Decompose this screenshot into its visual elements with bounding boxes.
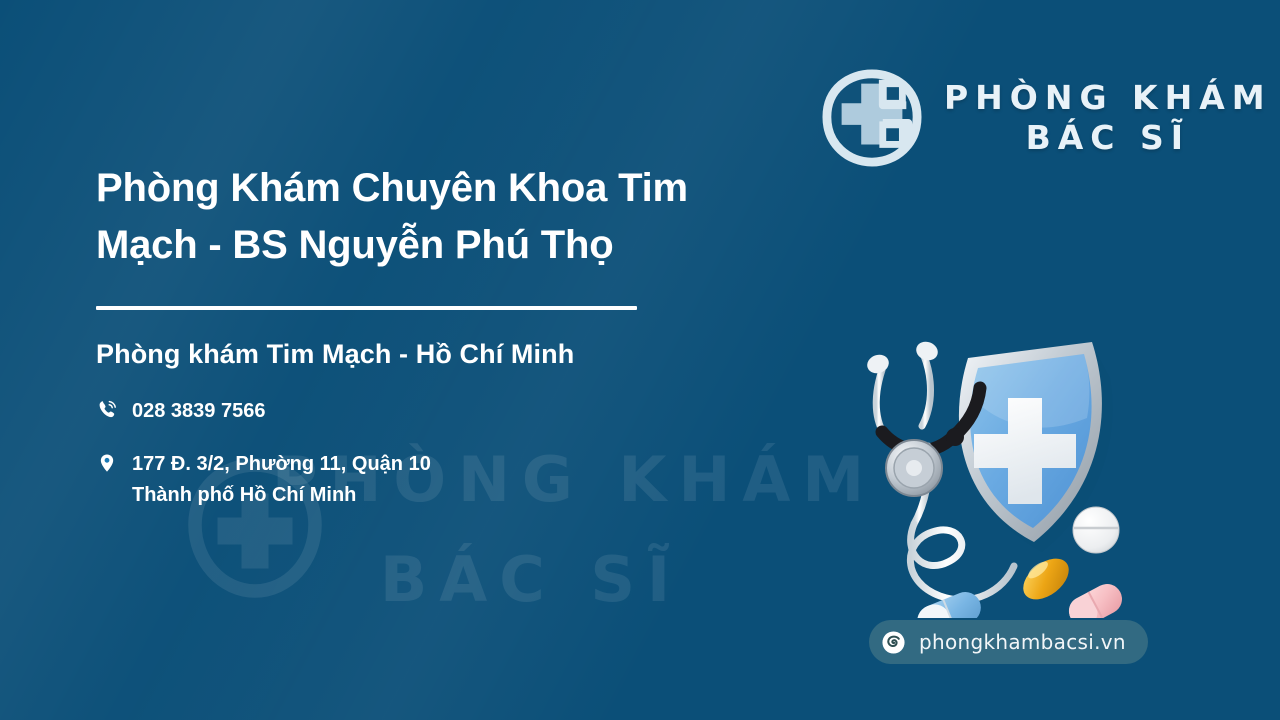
phone-number: 028 3839 7566	[132, 396, 265, 427]
logo-line-1: PHÒNG KHÁM	[944, 81, 1272, 115]
title-divider	[96, 306, 637, 310]
brand-logo: PHÒNG KHÁM BÁC SĨ	[818, 62, 1184, 174]
clinic-title: Phòng Khám Chuyên Khoa Tim Mạch - BS Ngu…	[96, 160, 756, 274]
watermark-line-2: BÁC SĨ	[380, 543, 682, 616]
address-text: 177 Đ. 3/2, Phường 11, Quận 10 Thành phố…	[132, 449, 431, 511]
logo-wordmark: PHÒNG KHÁM BÁC SĨ	[944, 81, 1272, 154]
website-globe-icon	[881, 630, 906, 655]
phone-icon	[96, 397, 118, 423]
website-badge[interactable]: phongkhambacsi.vn	[869, 620, 1148, 664]
contact-address-row[interactable]: 177 Đ. 3/2, Phường 11, Quận 10 Thành phố…	[96, 449, 796, 511]
website-url: phongkhambacsi.vn	[919, 630, 1126, 654]
banner-content: Phòng Khám Chuyên Khoa Tim Mạch - BS Ngu…	[96, 160, 796, 511]
clinic-banner: PHÒNG KHÁM BÁC SĨ PHÒNG KHÁM BÁC SĨ Phòn	[0, 0, 1280, 720]
medical-illustration	[828, 318, 1168, 618]
contact-list: 028 3839 7566 177 Đ. 3/2, Phường 11, Quậ…	[96, 396, 796, 511]
logo-line-2: BÁC SĨ	[1026, 121, 1190, 155]
logo-mark-icon	[818, 68, 926, 168]
contact-phone-row[interactable]: 028 3839 7566	[96, 396, 796, 427]
location-pin-icon	[96, 450, 118, 476]
clinic-subtitle: Phòng khám Tim Mạch - Hồ Chí Minh	[96, 339, 796, 370]
